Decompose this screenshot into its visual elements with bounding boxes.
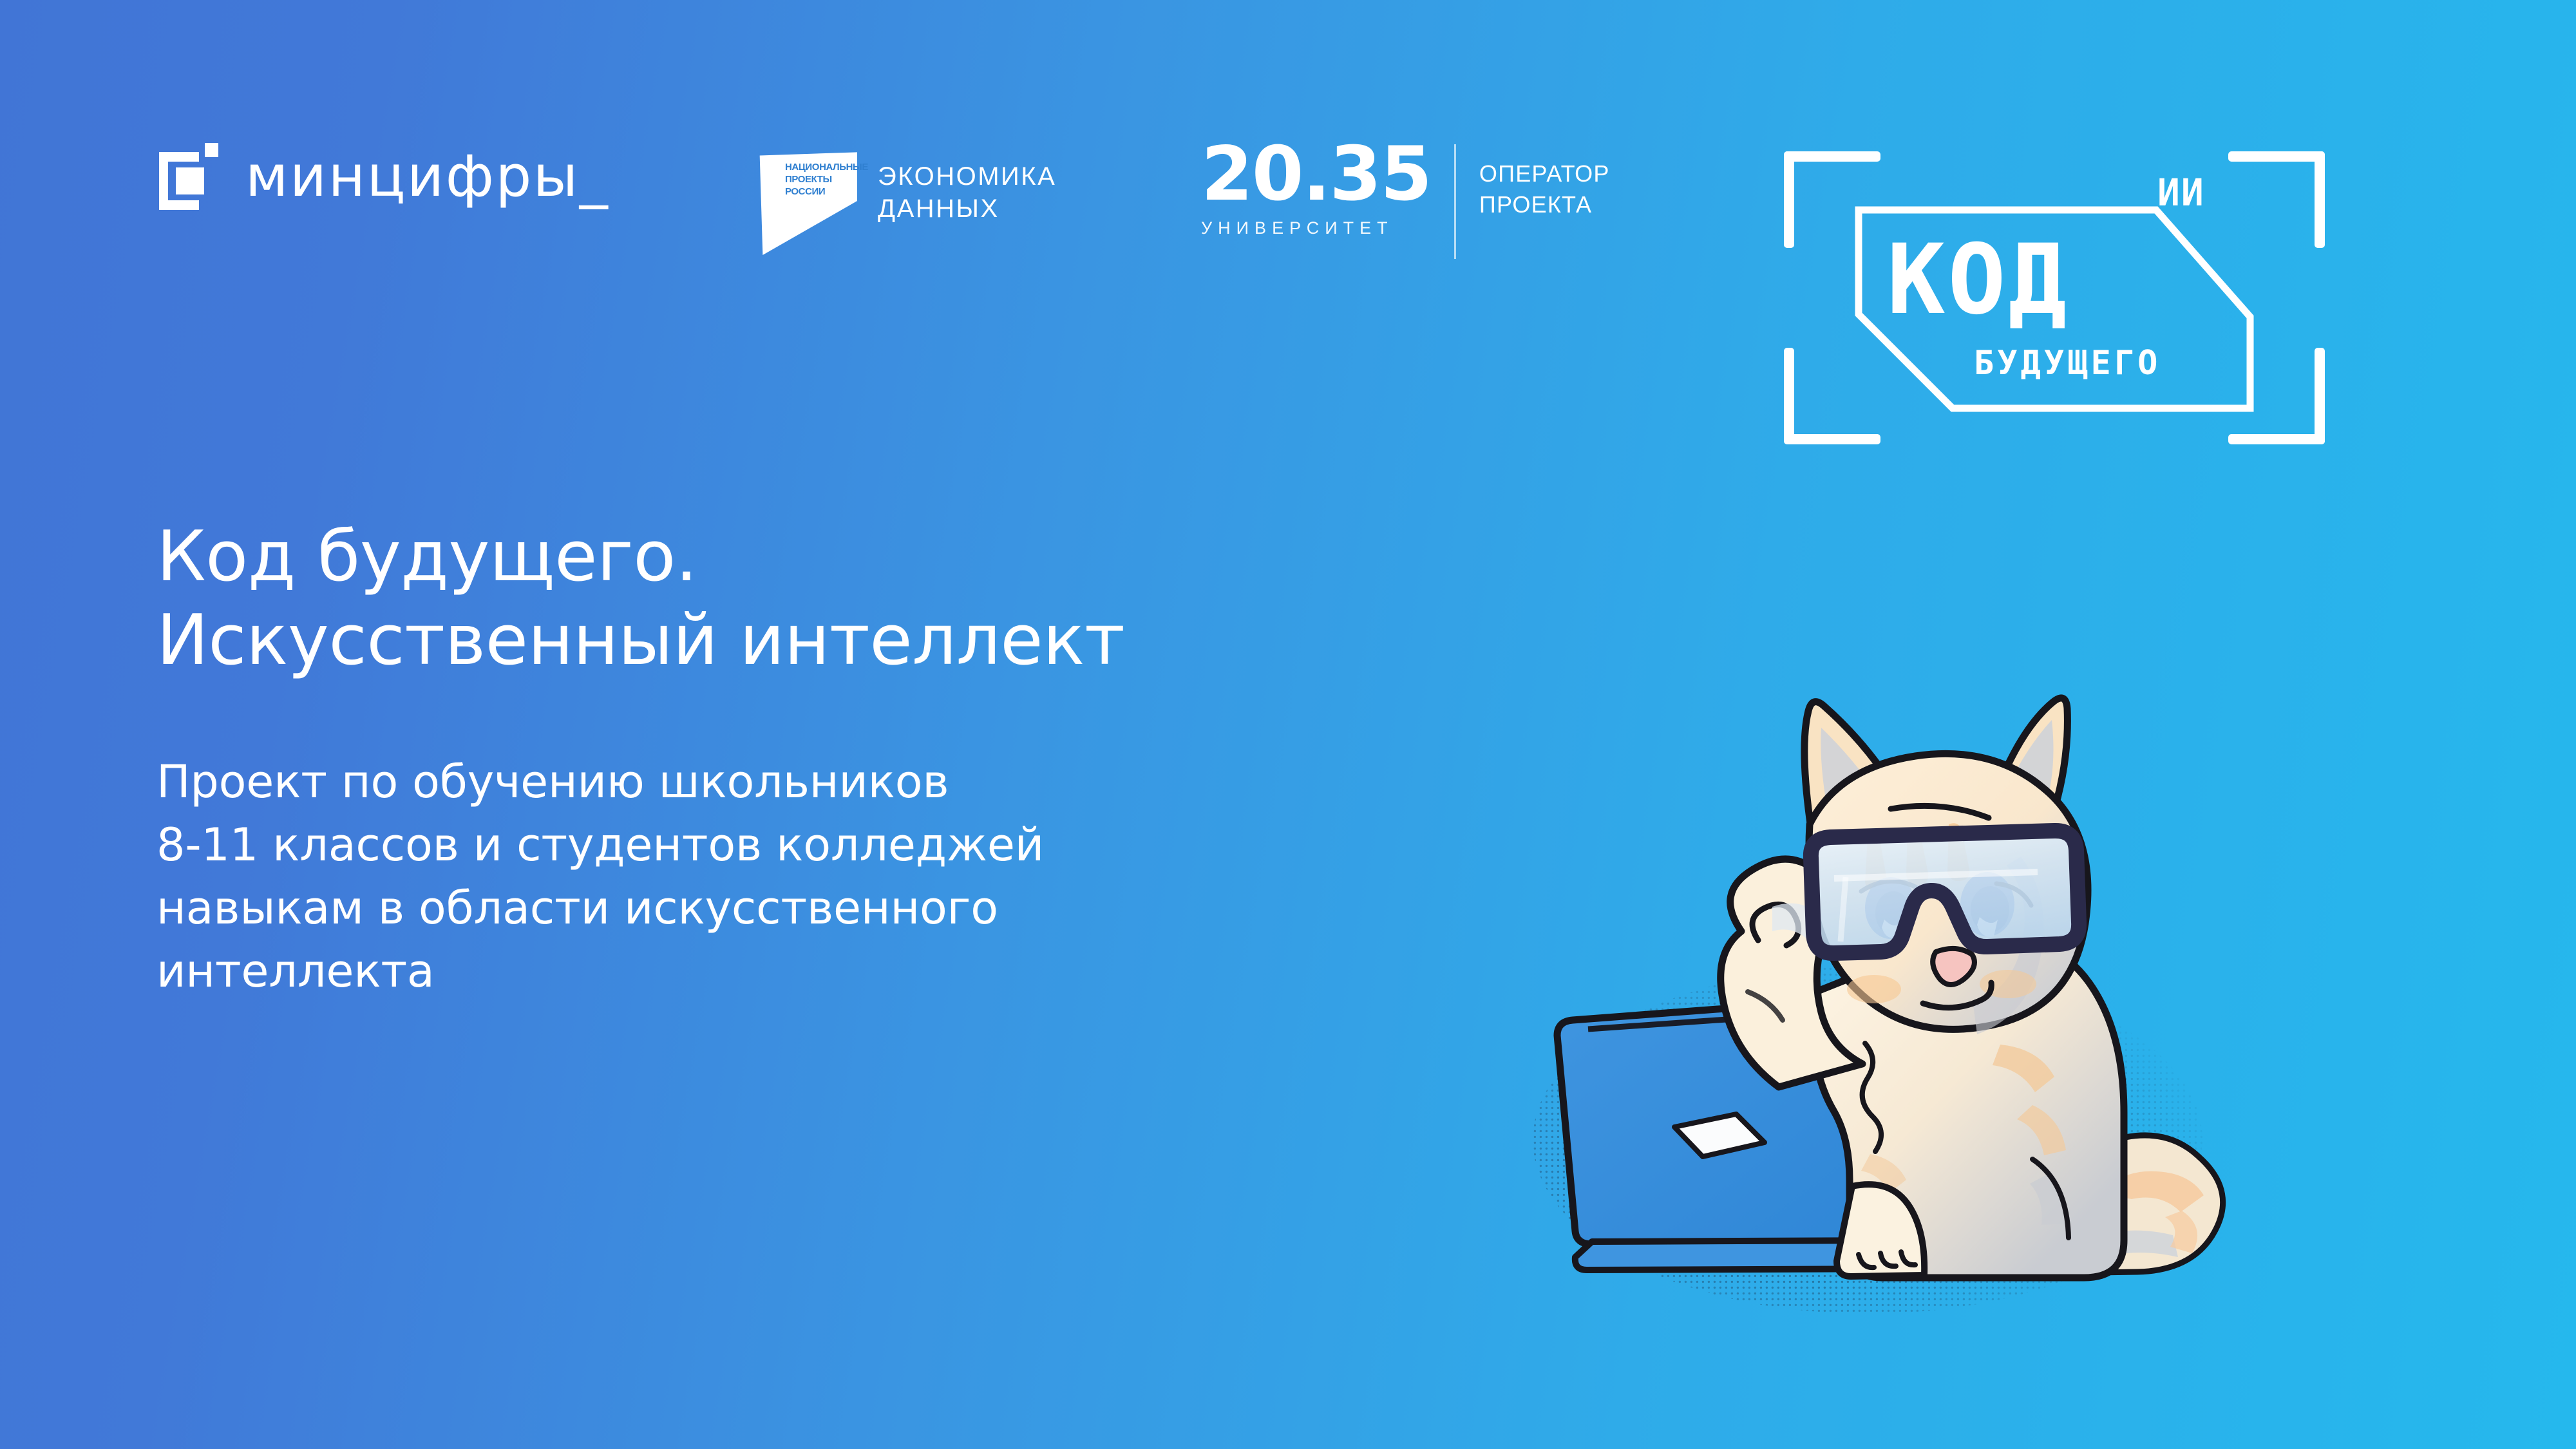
headline-line-1: Код будущего. [156,515,1477,599]
flag-line-3: РОССИИ [785,185,852,198]
university-2035-logo: 20.35 УНИВЕРСИТЕТ ОПЕРАТОР ПРОЕКТА [1201,140,1610,259]
headline-line-2: Искусственный интеллект [156,599,1477,683]
hero-description: Проект по обучению школьников 8-11 класс… [156,750,1477,1003]
natprojects-title-line-2: ДАННЫХ [878,193,1056,225]
mincifry-logo: минцифры_ [159,143,609,210]
flag-line-1: НАЦИОНАЛЬНЫЕ [785,161,852,173]
mincifry-wordmark: минцифры_ [245,148,609,205]
natprojects-title: ЭКОНОМИКА ДАННЫХ [878,161,1056,225]
flag-line-2: ПРОЕКТЫ [785,173,852,185]
description-line-3: навыкам в области искусственного [156,876,1477,940]
russia-flag-banner-icon: НАЦИОНАЛЬНЫЕ ПРОЕКТЫ РОССИИ [757,147,857,255]
university-2035-subtitle: УНИВЕРСИТЕТ [1201,220,1431,237]
cat-with-vr-goggles-illustration [1481,631,2396,1352]
kod-ai-label: ИИ [2157,174,2205,211]
logo-divider [1454,144,1456,259]
university-2035-mark: 20.35 УНИВЕРСИТЕТ [1201,140,1431,237]
header-logo-row: минцифры_ НАЦИОНАЛЬНЫЕ ПРОЕКТЫ РОССИИ ЭК… [0,0,2576,270]
description-line-4: интеллекта [156,940,1477,1003]
natprojects-logo: НАЦИОНАЛЬНЫЕ ПРОЕКТЫ РОССИИ ЭКОНОМИКА ДА… [757,147,1056,255]
operator-line-2: ПРОЕКТА [1479,189,1610,220]
kod-word: КОД [1887,232,2069,328]
mincifry-mark-icon [159,143,218,210]
page-title: Код будущего. Искусственный интеллект [156,515,1477,682]
kod-future-word: БУДУЩЕГО [1974,346,2161,380]
description-line-2: 8-11 классов и студентов колледжей [156,813,1477,876]
kod-budushchego-logo: КОД БУДУЩЕГО ИИ [1784,151,2325,444]
hero-copy-block: Код будущего. Искусственный интеллект Пр… [156,515,1477,1003]
project-operator-label: ОПЕРАТОР ПРОЕКТА [1479,158,1610,220]
description-line-1: Проект по обучению школьников [156,750,1477,813]
operator-line-1: ОПЕРАТОР [1479,158,1610,189]
promo-banner: минцифры_ НАЦИОНАЛЬНЫЕ ПРОЕКТЫ РОССИИ ЭК… [0,0,2576,1449]
natprojects-title-line-1: ЭКОНОМИКА [878,161,1056,193]
university-2035-number: 20.35 [1201,140,1431,209]
